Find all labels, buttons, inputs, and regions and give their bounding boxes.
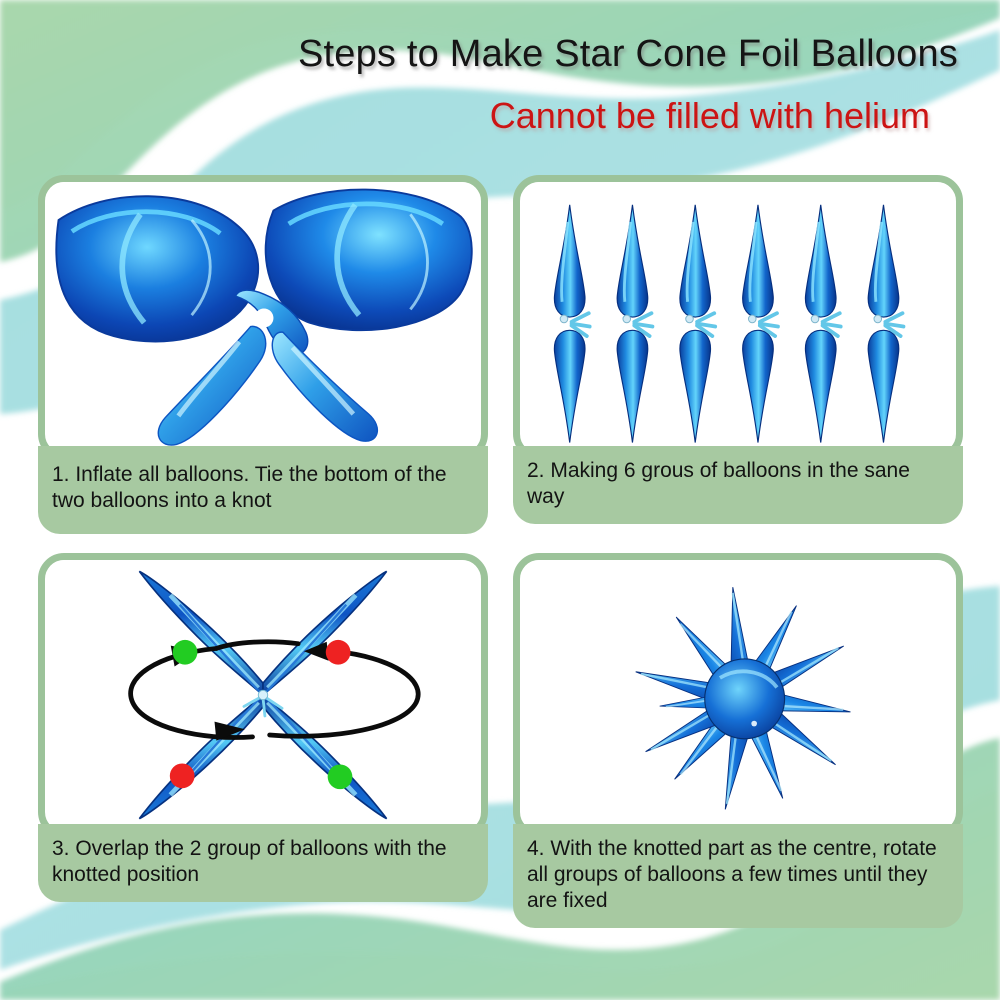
step-1-image-card	[38, 175, 488, 460]
step-panel-1: 1. Inflate all balloons. Tie the bottom …	[38, 175, 488, 534]
step-panel-3: 3. Overlap the 2 group of balloons with …	[38, 553, 488, 902]
marker-green-lower-right	[328, 764, 353, 789]
six-pairs-of-cone-balloons-illustration	[520, 182, 956, 453]
step-3-image-card	[38, 553, 488, 838]
step-2-caption: 2. Making 6 grous of balloons in the san…	[513, 446, 963, 524]
marker-red-lower-left	[170, 763, 195, 788]
overlap-two-groups-illustration	[45, 560, 481, 831]
step-3-caption: 3. Overlap the 2 group of balloons with …	[38, 824, 488, 902]
balloon-right	[266, 190, 472, 331]
finished-star-cone-balloon-illustration	[520, 560, 956, 831]
page-title: Steps to Make Star Cone Foil Balloons	[0, 33, 958, 76]
step-4-caption: 4. With the knotted part as the centre, …	[513, 824, 963, 928]
page-header: Steps to Make Star Cone Foil Balloons Ca…	[0, 0, 1000, 165]
infographic-page: Steps to Make Star Cone Foil Balloons Ca…	[0, 0, 1000, 1000]
step-4-image-card	[513, 553, 963, 838]
step-1-caption: 1. Inflate all balloons. Tie the bottom …	[38, 446, 488, 534]
step-panel-4: 4. With the knotted part as the centre, …	[513, 553, 963, 928]
two-inflated-foil-balloons-knotted-illustration	[45, 182, 481, 453]
marker-red-upper-right	[326, 640, 351, 665]
page-subtitle-warning: Cannot be filled with helium	[0, 95, 930, 137]
step-panel-2: 2. Making 6 grous of balloons in the san…	[513, 175, 963, 524]
step-2-image-card	[513, 175, 963, 460]
balloon-left	[56, 196, 258, 341]
marker-green-upper-left	[173, 640, 198, 665]
